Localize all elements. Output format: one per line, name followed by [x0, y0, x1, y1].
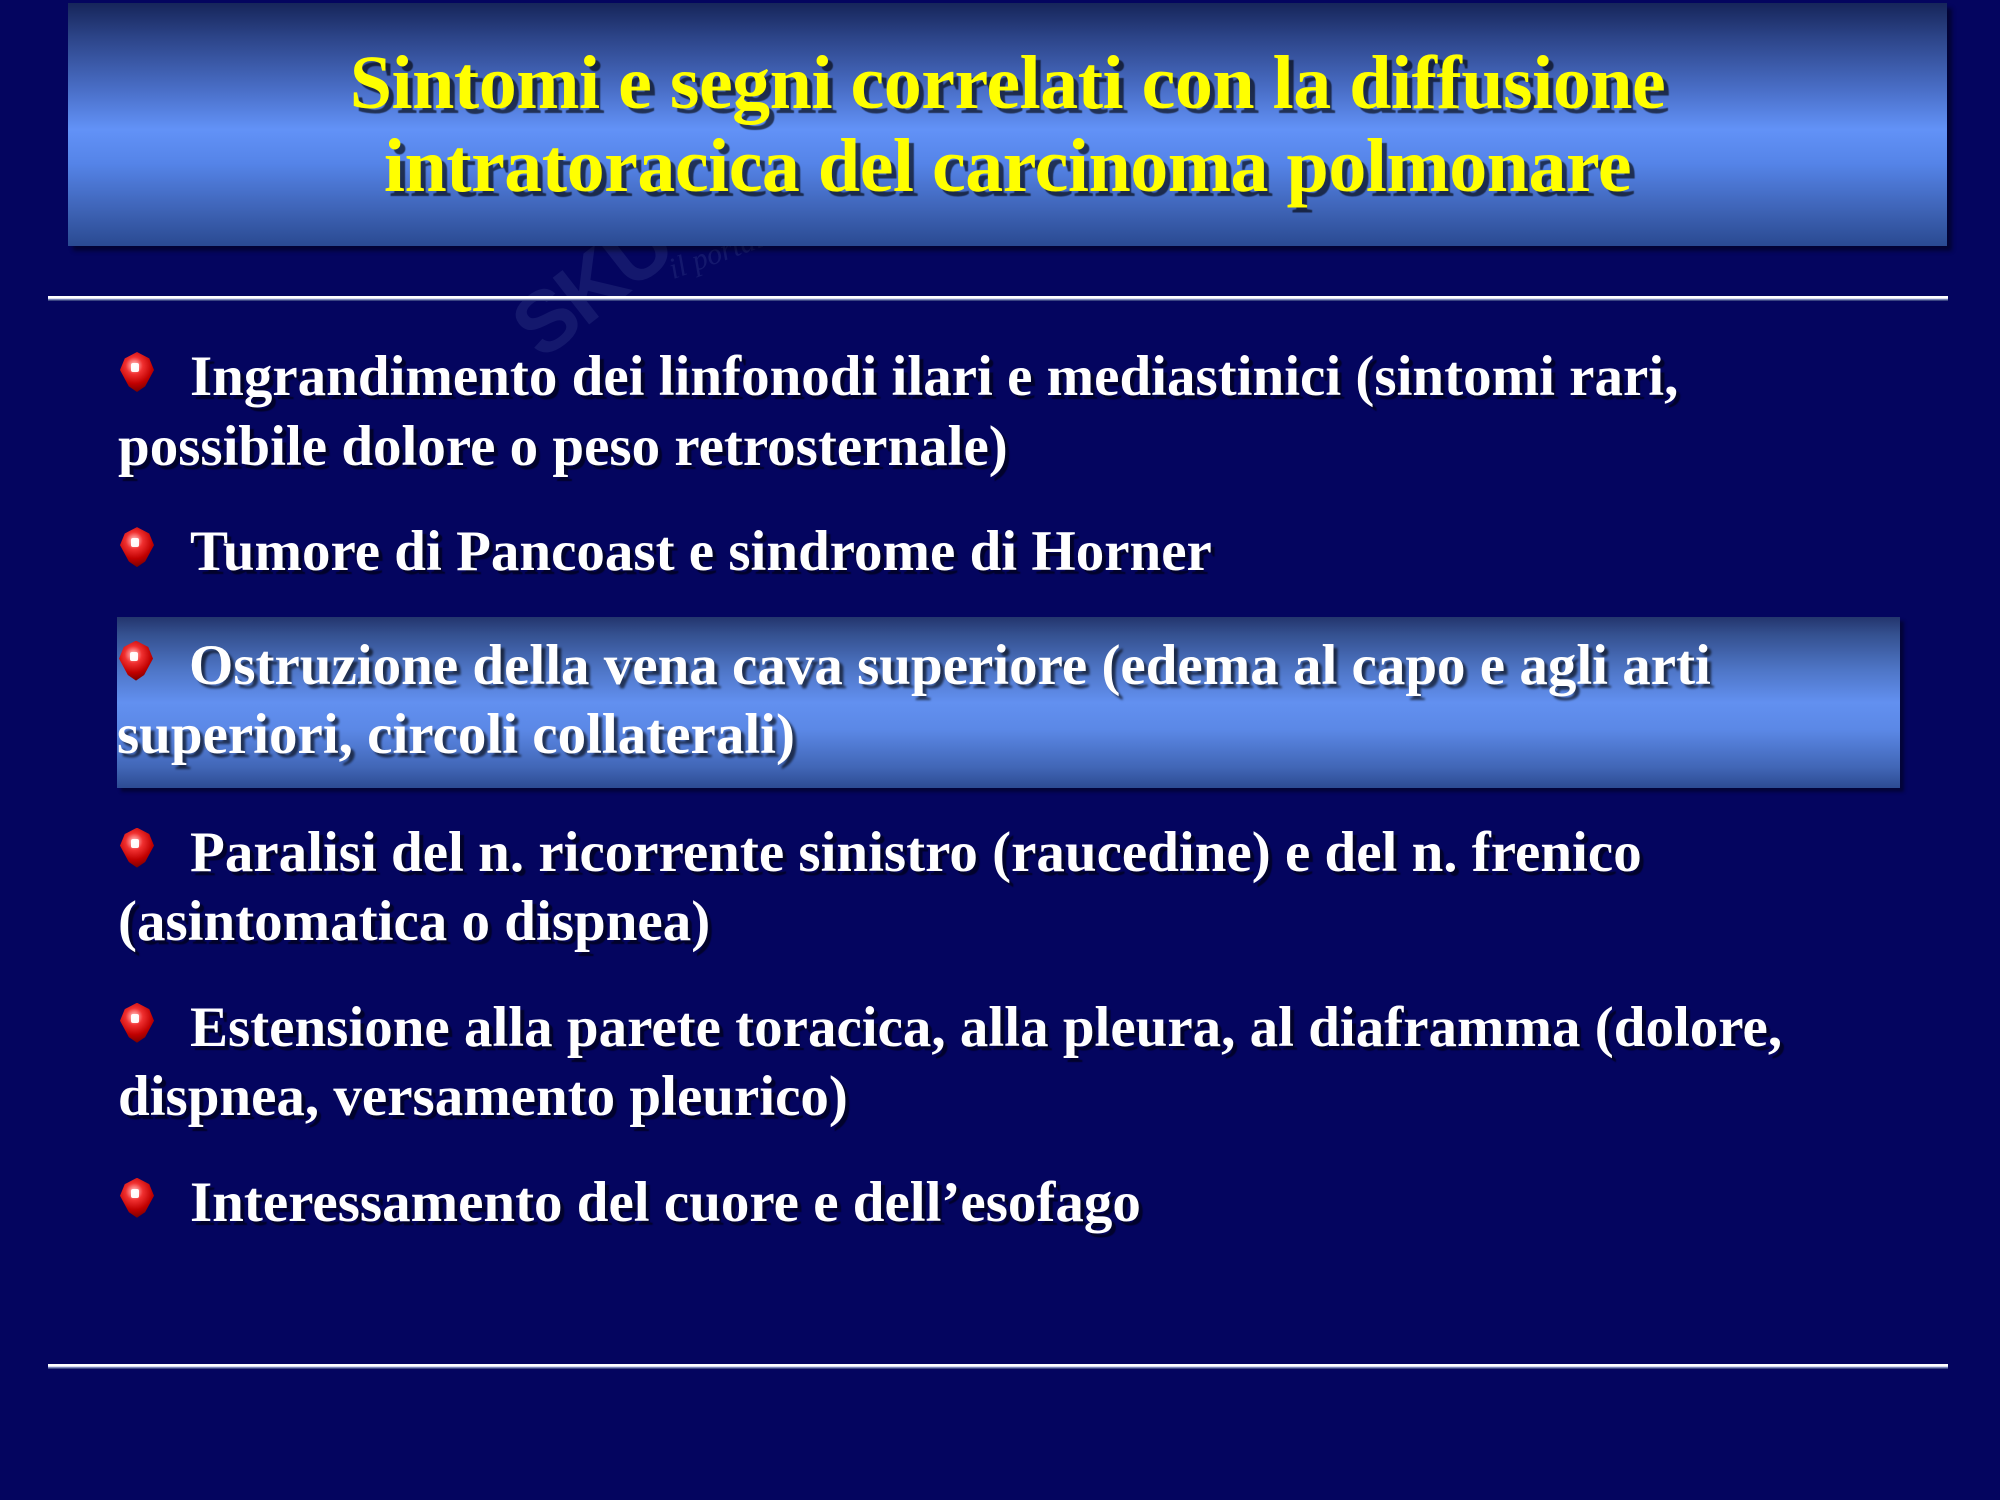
red-gem-bullet-icon: [120, 527, 154, 567]
bullet-gem-highlight: [131, 363, 139, 372]
page-title: Sintomi e segni correlati con la diffusi…: [350, 42, 1665, 206]
bullet-item-text: Ingrandimento dei linfonodi ilari e medi…: [118, 342, 1894, 481]
bullet-gem-shape: [119, 641, 153, 681]
bullet-list: Ingrandimento dei linfonodi ilari e medi…: [118, 336, 1908, 1267]
red-gem-bullet-icon: [120, 1003, 154, 1043]
divider-top: [48, 296, 1948, 301]
bullet-item-highlighted[interactable]: Ostruzione della vena cava superiore (ed…: [117, 617, 1900, 788]
bullet-item-text: Estensione alla parete toracica, alla pl…: [118, 993, 1894, 1132]
red-gem-bullet-icon: [120, 352, 154, 392]
presentation-slide: SKUOLA.net il portale degli studenti Sin…: [0, 0, 2000, 1500]
bullet-item-text: Interessamento del cuore e dell’esofago: [118, 1168, 1894, 1238]
red-gem-bullet-icon: [119, 641, 153, 681]
red-gem-bullet-icon: [120, 1178, 154, 1218]
bullet-gem-shape: [120, 828, 154, 868]
bullet-gem-highlight: [131, 1189, 139, 1198]
bullet-item[interactable]: Paralisi del n. ricorrente sinistro (rau…: [118, 812, 1908, 963]
slide-title-box: Sintomi e segni correlati con la diffusi…: [68, 3, 1947, 246]
bullet-item-text: Ostruzione della vena cava superiore (ed…: [117, 631, 1886, 770]
bullet-gem-highlight: [131, 1014, 139, 1023]
bullet-item[interactable]: Estensione alla parete toracica, alla pl…: [118, 987, 1908, 1138]
bullet-gem-shape: [120, 352, 154, 392]
bullet-item[interactable]: Ingrandimento dei linfonodi ilari e medi…: [118, 336, 1908, 487]
bullet-gem-highlight: [130, 652, 138, 661]
bullet-gem-highlight: [131, 538, 139, 547]
bullet-item-text: Tumore di Pancoast e sindrome di Horner: [118, 517, 1894, 587]
bullet-item[interactable]: Tumore di Pancoast e sindrome di Horner: [118, 511, 1908, 593]
red-gem-bullet-icon: [120, 828, 154, 868]
bullet-item[interactable]: Interessamento del cuore e dell’esofago: [118, 1162, 1908, 1244]
divider-bottom: [48, 1364, 1948, 1369]
bullet-gem-highlight: [131, 839, 139, 848]
bullet-gem-shape: [120, 527, 154, 567]
bullet-gem-shape: [120, 1178, 154, 1218]
bullet-item-text: Paralisi del n. ricorrente sinistro (rau…: [118, 818, 1894, 957]
bullet-gem-shape: [120, 1003, 154, 1043]
